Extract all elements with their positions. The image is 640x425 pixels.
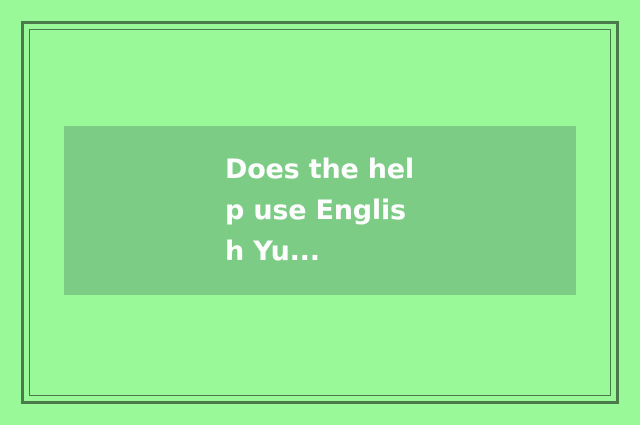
headline-text: Does the help use English Yu...	[225, 149, 415, 272]
content-panel: Does the help use English Yu...	[64, 126, 576, 295]
screenshot-canvas: Does the help use English Yu...	[0, 0, 640, 425]
headline-wrapper: Does the help use English Yu...	[225, 149, 415, 272]
